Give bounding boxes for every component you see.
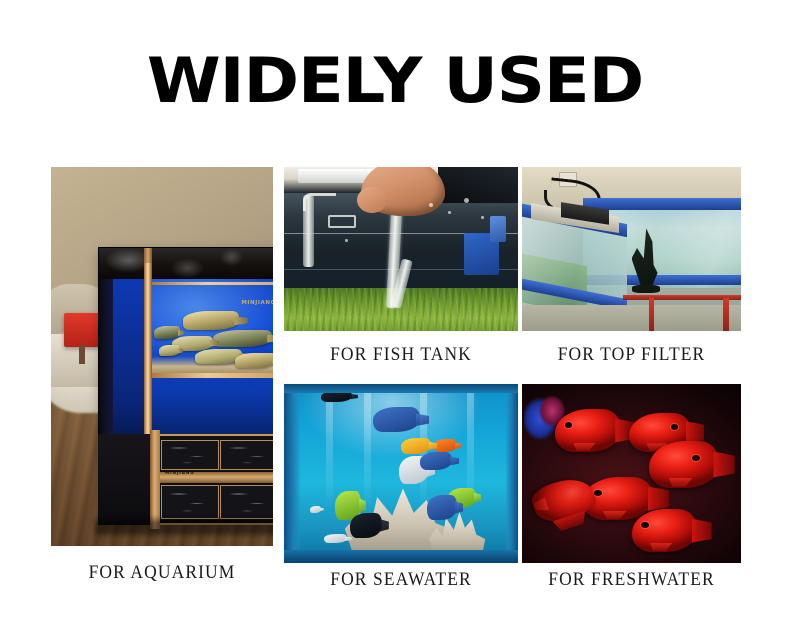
tank-stand (522, 305, 741, 331)
red-stand-leg (723, 298, 728, 331)
tank-left-edge (99, 279, 114, 435)
photo-freshwater (522, 384, 741, 563)
red-stand-leg (649, 298, 654, 331)
fish-eye (565, 422, 572, 428)
hood-marble-texture (99, 248, 273, 280)
fish-fin (650, 543, 672, 552)
cabinet-base-shadow (95, 519, 273, 534)
page-title: WIDELY USED (0, 50, 790, 112)
marine-fish (373, 407, 420, 432)
caption-fish-tank: FOR FISH TANK (275, 345, 527, 365)
widely-used-infographic: WIDELY USED (0, 0, 790, 626)
background-shadow (438, 167, 518, 203)
caption-freshwater: FOR FRESHWATER (512, 570, 750, 590)
marine-fish (427, 495, 457, 520)
tank-gold-trim-top (150, 282, 273, 285)
tank-brand-logo: MINJIANG (241, 300, 273, 306)
panel-fish-tank (284, 167, 518, 331)
blue-tank-trim (583, 198, 741, 209)
photo-seawater (284, 384, 518, 563)
panel-grid: MINJIANG MINJIANG FOR AQUARIUM (51, 167, 741, 587)
fish-eye (641, 522, 648, 528)
light-ray (364, 384, 371, 509)
thumb (357, 187, 387, 213)
tank-frame-right (506, 384, 518, 563)
cabinet-door-panel (220, 440, 273, 470)
blue-filter-box (490, 216, 506, 242)
arowana-fish (235, 353, 273, 368)
fish-eye (671, 424, 678, 429)
cabinet-door-panel (220, 485, 273, 519)
light-ray (326, 384, 333, 509)
fish-eye (692, 455, 700, 461)
cabinet-side (98, 434, 151, 525)
caption-aquarium: FOR AQUARIUM (41, 563, 282, 583)
arowana-fish (159, 345, 179, 356)
tank-frame-bottom (284, 550, 518, 563)
filter-sponge-base (632, 285, 660, 293)
fish-fin (573, 443, 595, 452)
red-lamp-shade (64, 313, 100, 347)
lamp-stem (79, 345, 86, 364)
bubble (481, 216, 484, 219)
arowana-fish (213, 330, 272, 347)
blood-parrot-fish (649, 441, 719, 488)
caption-top-filter: FOR TOP FILTER (512, 345, 750, 365)
panel-aquarium: MINJIANG MINJIANG (51, 167, 273, 546)
intake-pipe (303, 195, 315, 267)
fish-eye (594, 490, 602, 496)
fish-fin (603, 511, 627, 520)
tank-hood (99, 248, 273, 280)
panel-freshwater (522, 384, 741, 563)
pipe-clamp (328, 215, 355, 229)
photo-fish-tank (284, 167, 518, 331)
fish-fin (533, 497, 549, 513)
cabinet-gold-post (150, 430, 160, 529)
cabinet-door-panel (161, 440, 219, 470)
cabinet-door-panel (161, 485, 219, 519)
tank-frame-left (284, 384, 300, 563)
arowana-fish (183, 311, 238, 330)
tank-frame-top (284, 384, 518, 393)
bubble (345, 239, 348, 242)
blood-parrot-fish (555, 409, 621, 452)
blood-parrot-fish (632, 509, 698, 552)
caption-seawater: FOR SEAWATER (275, 570, 527, 590)
panel-top-filter (522, 167, 741, 331)
cabinet-gold-strip: MINJIANG (158, 472, 273, 483)
photo-aquarium: MINJIANG MINJIANG (51, 167, 273, 546)
gold-corner-post (144, 263, 152, 436)
photo-top-filter (522, 167, 741, 331)
tank-gold-trim-bottom (150, 373, 273, 378)
fish-fin (669, 478, 693, 487)
panel-seawater (284, 384, 518, 563)
aquarium-tank: MINJIANG (98, 247, 273, 437)
marine-fish (401, 438, 431, 454)
marine-fish (350, 513, 383, 538)
